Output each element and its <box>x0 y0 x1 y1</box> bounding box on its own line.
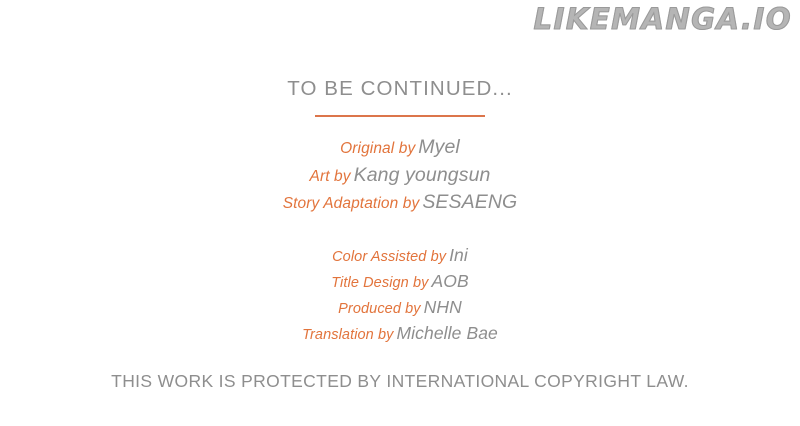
divider-rule <box>315 115 485 117</box>
credit-person: AOB <box>432 271 469 291</box>
credit-person: Michelle Bae <box>397 323 498 343</box>
likemanga-watermark: LIKEMANGA.IO <box>534 2 792 36</box>
credit-role: Translation by <box>302 327 393 343</box>
credit-person: Ini <box>449 245 468 265</box>
credit-line: Color Assisted byIni <box>0 247 800 265</box>
credit-role: Color Assisted by <box>332 249 446 265</box>
credit-line: Title Design byAOB <box>0 273 800 291</box>
credit-role: Original by <box>340 140 415 157</box>
credit-line: Story Adaptation bySESAENG <box>0 193 800 213</box>
credit-person: SESAENG <box>422 191 517 213</box>
credit-line: Art byKang youngsun <box>0 166 800 186</box>
to-be-continued-heading: TO BE CONTINUED... <box>0 77 800 101</box>
comic-end-page: LIKEMANGA.IO TO BE CONTINUED... Original… <box>0 0 800 426</box>
credit-role: Story Adaptation by <box>283 195 420 212</box>
primary-credits-block: Original byMyel Art byKang youngsun Stor… <box>0 138 800 221</box>
copyright-notice: THIS WORK IS PROTECTED BY INTERNATIONAL … <box>0 371 800 392</box>
secondary-credits-block: Color Assisted byIni Title Design byAOB … <box>0 247 800 351</box>
credit-person: Myel <box>418 136 460 158</box>
credit-line: Produced byNHN <box>0 299 800 317</box>
credit-line: Original byMyel <box>0 138 800 158</box>
credit-role: Title Design by <box>331 275 428 291</box>
credit-person: Kang youngsun <box>354 164 491 186</box>
credit-line: Translation byMichelle Bae <box>0 325 800 343</box>
credit-role: Art by <box>310 168 351 185</box>
credit-role: Produced by <box>338 301 421 317</box>
credit-person: NHN <box>424 297 462 317</box>
